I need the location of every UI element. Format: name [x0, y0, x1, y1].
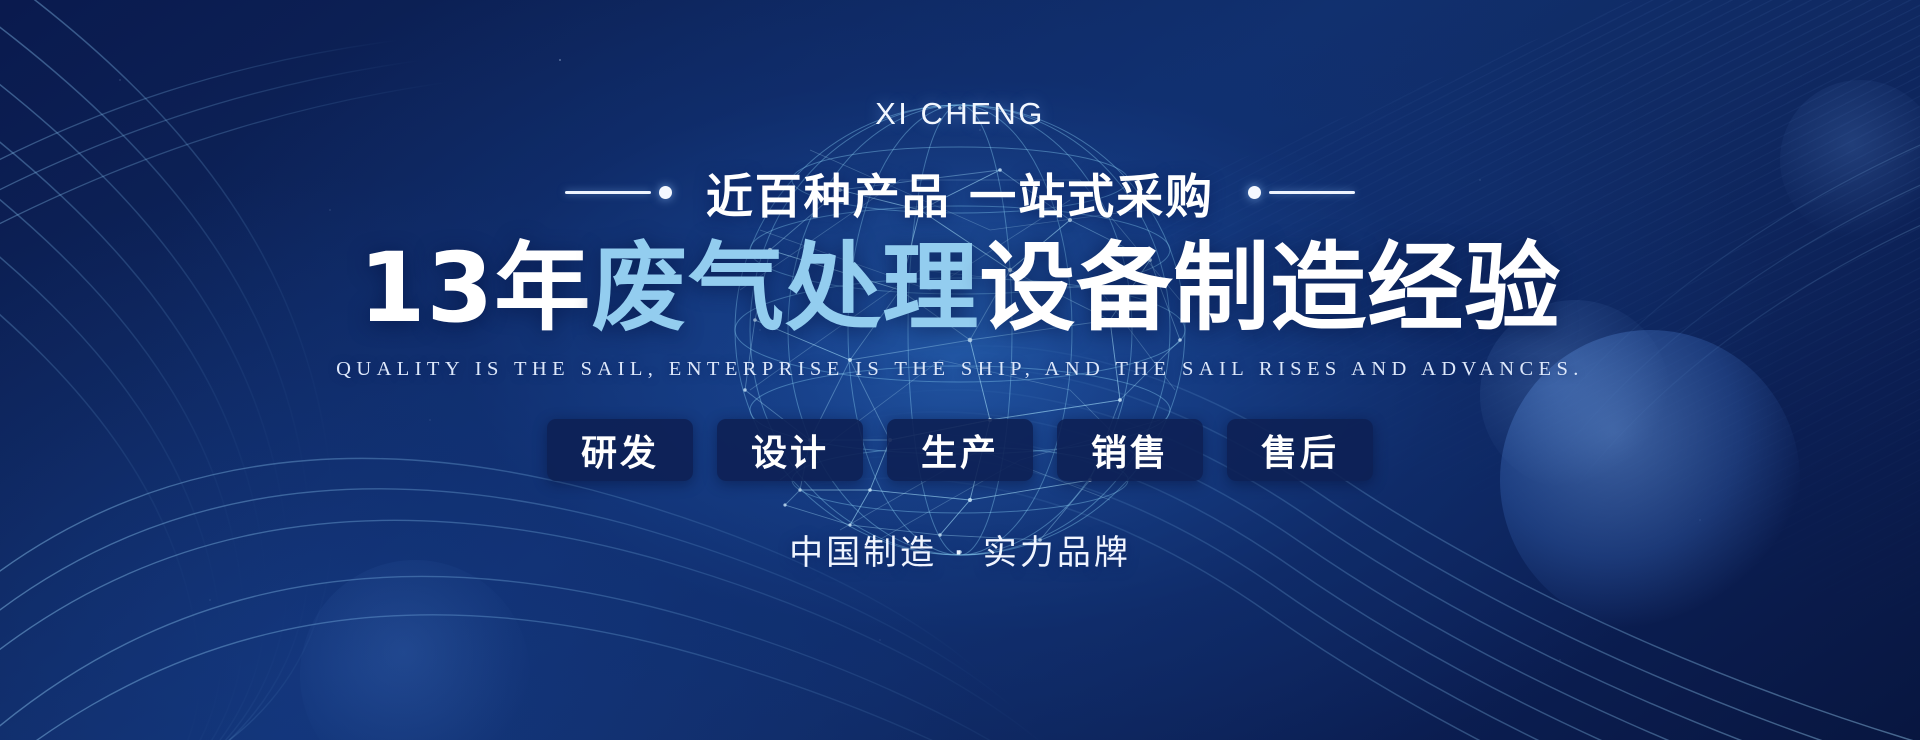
- tagline-en: QUALITY IS THE SAIL, ENTERPRISE IS THE S…: [336, 358, 1584, 381]
- page-title: 13年废气处理设备制造经验: [359, 233, 1562, 344]
- pill-sales[interactable]: 销售: [1057, 419, 1203, 481]
- headline-accent: 废气处理: [591, 232, 979, 344]
- rule-left-icon: [565, 186, 672, 199]
- pill-after-sales[interactable]: 售后: [1227, 419, 1373, 481]
- rule-right-bar: [1269, 191, 1355, 194]
- subheadline: 近百种产品 一站式采购: [706, 158, 1214, 227]
- brand-name-en: XI CHENG: [875, 96, 1045, 132]
- footer-slogan: 中国制造·实力品牌: [789, 525, 1131, 574]
- rule-left-bar: [565, 191, 651, 194]
- pill-design[interactable]: 设计: [717, 419, 863, 481]
- banner-content: XI CHENG 近百种产品 一站式采购 13年废气处理设备制造经验 QUALI…: [0, 0, 1920, 740]
- hero-banner: XI CHENG 近百种产品 一站式采购 13年废气处理设备制造经验 QUALI…: [0, 0, 1920, 740]
- rule-left-dot: [659, 186, 672, 199]
- footer-slogan-left: 中国制造: [789, 533, 937, 573]
- footer-slogan-right: 实力品牌: [983, 533, 1131, 573]
- subheadline-row: 近百种产品 一站式采购: [565, 158, 1355, 227]
- service-pill-list: 研发 设计 生产 销售 售后: [547, 419, 1373, 481]
- rule-right-dot: [1248, 186, 1261, 199]
- pill-rd[interactable]: 研发: [547, 419, 693, 481]
- footer-separator-icon: ·: [937, 533, 983, 573]
- headline-tail: 设备制造经验: [979, 232, 1561, 344]
- rule-right-icon: [1248, 186, 1355, 199]
- pill-production[interactable]: 生产: [887, 419, 1033, 481]
- headline-years: 13年: [359, 232, 592, 344]
